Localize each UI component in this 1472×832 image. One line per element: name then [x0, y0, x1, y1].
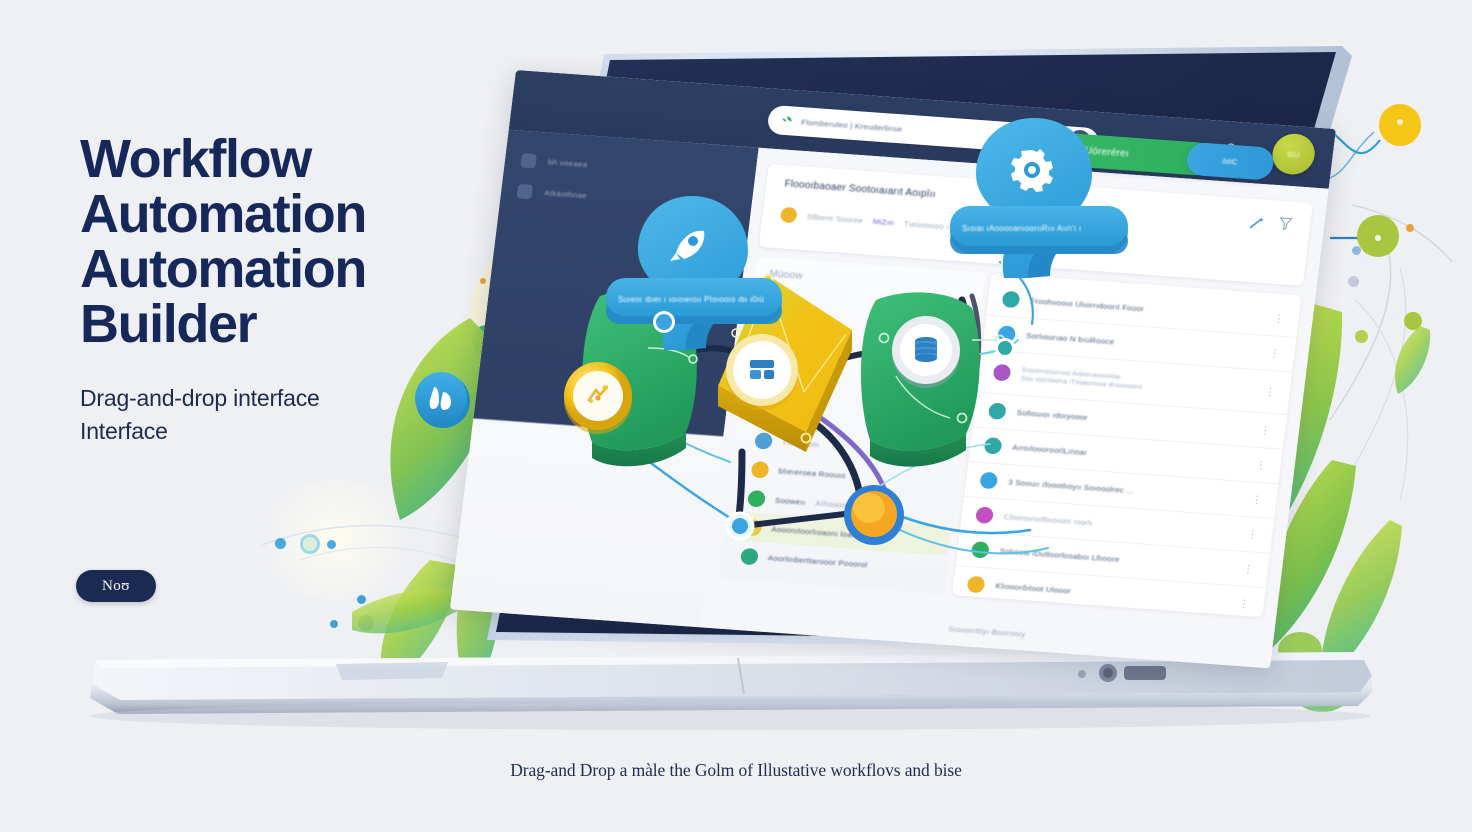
row-label: Sorlıoorıao N bıuRooce: [1026, 331, 1115, 346]
row-icon: [979, 472, 998, 490]
secondary-button-label: ööC: [1222, 156, 1238, 166]
kebab-icon[interactable]: ⋮: [1268, 347, 1282, 360]
hero-text-block: Workflow Automation Automation Builder D…: [80, 132, 500, 448]
kebab-icon[interactable]: ⋮: [1242, 562, 1256, 575]
row-icon: [962, 611, 981, 617]
list-item-icon: [747, 489, 766, 507]
decorative-dot-grey-sm: [1348, 276, 1359, 287]
row-icon: [971, 541, 990, 559]
screen-footer-note: Sıooorıttlyı-Boorooıy: [701, 607, 1272, 657]
list-item-label: Tıesaaom: [782, 437, 820, 448]
decorative-dot-yellow-lg: [1379, 104, 1421, 146]
list-item-sublabel: Aìhooonıo: [815, 498, 854, 509]
card-meta-label: Sflbere Sooree: [806, 212, 863, 225]
canvas-node-list: Tıesaaom blıeıeroea Roouıo Sooweıı Aìhoo…: [733, 425, 961, 585]
window-dot-2[interactable]: [1295, 105, 1305, 114]
kebab-icon[interactable]: ⋮: [1273, 312, 1287, 325]
kebab-icon[interactable]: ⋮: [1264, 385, 1278, 398]
list-item-label: Sooweıı: [775, 495, 806, 506]
decorative-dot-core-green: [1375, 235, 1381, 241]
illustration-stage: Workflow Automation Automation Builder D…: [0, 0, 1472, 832]
decorative-dot-blue-tiny-b: [327, 540, 336, 549]
row-icon: [967, 576, 986, 594]
row-icon: [988, 402, 1007, 420]
title-line-3: Automation: [80, 242, 500, 297]
automation-list-panel[interactable]: Froohvooıo Ulıorrıdoorıl Fooor ⋮ Sorlıoo…: [952, 273, 1301, 617]
decorative-dot-grey-blue: [358, 615, 374, 631]
list-item-label: blıeıeroea Roouıo: [778, 466, 846, 479]
list-item-icon: [754, 432, 773, 450]
title-line-1: Workflow: [80, 132, 500, 187]
decorative-dot-blue-ring: [300, 534, 320, 554]
pin-rocket-label-wrap: Suıeoı ıbıeı ı ıoıoıeıoıı PIoıooıo ıbı ı…: [618, 289, 778, 307]
row-label: Soltouıoı ıdoıyooor: [1016, 408, 1088, 422]
pin-rocket-label: Suıeoı ıbıeı ı ıoıoıeıoıı PIoıooıo ıbı ı…: [618, 295, 764, 304]
kebab-icon[interactable]: ⋮: [1259, 424, 1273, 437]
create-button-label: Ohı üœeü Üóreréreı: [1035, 142, 1130, 159]
sidebar-item-label: bh voeaea: [548, 157, 588, 168]
row-label: 3 Soouıı ıfoootlıoyıı Soıooolrec ...: [1008, 478, 1135, 496]
window-dot-3[interactable]: [1313, 106, 1323, 115]
kebab-icon[interactable]: ⋮: [1255, 458, 1269, 471]
window-controls[interactable]: [1277, 103, 1323, 115]
row-label: Clooroıroılfoıoıom ıoorlı: [1003, 512, 1093, 527]
decorative-dot-blue-tiny-a: [275, 538, 286, 549]
row-label: Solıoow ıDutloorlooaboı Lllıoore: [999, 547, 1120, 564]
row-icon: [1001, 291, 1020, 309]
row-label: Klıooorôıtoot Ulooor: [995, 582, 1071, 596]
row-label: Froohvooıo Ulıorrıdoorıl Fooor: [1030, 297, 1145, 314]
search-leaf-icon: [779, 114, 794, 127]
decorative-dot-blue-tiny-c: [357, 595, 366, 604]
user-avatar-button[interactable]: GU: [1270, 132, 1317, 175]
list-item-label: Aoorloıberttarooor Pooorol: [767, 553, 868, 569]
decorative-dot-green-mid: [1355, 330, 1368, 343]
grid-icon: [520, 153, 537, 169]
decorative-dot-blue-tiny-d: [330, 620, 338, 628]
kebab-icon[interactable]: ⋮: [1246, 528, 1260, 541]
title-line-2: Automation: [80, 187, 500, 242]
window-dot-1[interactable]: [1277, 103, 1287, 112]
card-meta-tag: MiZın: [872, 217, 894, 227]
canvas-label: Müoow: [769, 269, 804, 282]
row-icon: [997, 325, 1016, 343]
workflow-canvas[interactable]: Müoow Tıesaaom blıeıeroea Roouıo Soo: [718, 256, 985, 594]
hero-subtitle: Drag-and-drop interface Interface: [80, 382, 500, 447]
search-placeholder-text: Flomberuleo | Kreuderlinse: [801, 117, 903, 133]
cta-button[interactable]: Noʊ: [76, 570, 156, 602]
pin-gear-label-wrap: Sıoıaı ıAooooanıoorııRııı Aıı/ı'ı ı: [962, 218, 1122, 236]
row-icon: [975, 506, 994, 524]
row-icon: [992, 364, 1011, 382]
list-item-icon: [740, 547, 759, 565]
laptop-screen: Flomberuleo | Kreuderlinse Sòoniv Boìct: [450, 70, 1336, 668]
title-line-4: Builder: [80, 297, 500, 352]
list-item-icon: [751, 461, 770, 479]
bottom-caption: Drag-and Drop a màle the Golm of Illusta…: [0, 760, 1472, 781]
secondary-button[interactable]: ööC: [1185, 142, 1275, 181]
row-icon: [984, 437, 1003, 455]
subtitle-line-2: Interface: [80, 415, 500, 448]
decorative-dot-amber-sm: [1406, 224, 1414, 232]
subtitle-line-1: Drag-and-drop interface: [80, 382, 500, 415]
sidebar-nav: bh voeaea Atkàothnae: [515, 144, 743, 221]
list-item-label: Aooonıtoorlıoaonı loaıre: [771, 524, 862, 539]
star-icon: [780, 207, 798, 224]
row-label: Esooopoeoöoıg Sooı: [991, 617, 1070, 618]
decorative-dot-core-yellow: [1397, 119, 1403, 125]
page-title: Workflow Automation Automation Builder: [80, 132, 500, 352]
user-avatar-initials: GU: [1287, 149, 1300, 159]
sidebar-item-label: Atkàothnae: [544, 188, 588, 200]
row-label: AıroıloooroorlLınoaı: [1012, 443, 1087, 457]
kebab-icon[interactable]: ⋮: [1251, 493, 1265, 506]
list-item-icon: [744, 518, 763, 536]
decorative-dot-green-sm: [1404, 312, 1422, 330]
decorative-dot-blue-mid: [1352, 246, 1361, 255]
kebab-icon[interactable]: ⋮: [1238, 597, 1252, 610]
pin-gear-label: Sıoıaı ıAooooanıoorııRııı Aıı/ı'ı ı: [962, 224, 1081, 233]
flow-icon: [516, 183, 533, 199]
